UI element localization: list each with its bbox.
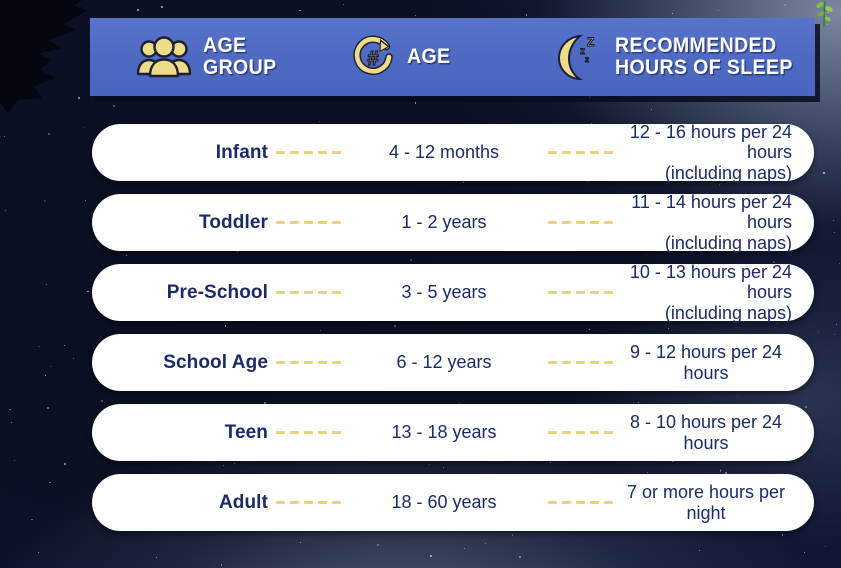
header-column-age: # AGE — [340, 18, 530, 96]
people-group-icon — [136, 36, 192, 78]
dash — [548, 291, 557, 294]
dash — [304, 221, 313, 224]
svg-text:#: # — [367, 48, 378, 70]
dashed-divider — [544, 221, 616, 224]
dash — [604, 361, 613, 364]
table-row: Adult18 - 60 years7 or more hours per ni… — [92, 474, 814, 531]
table-row: School Age6 - 12 years9 - 12 hours per 2… — [92, 334, 814, 391]
dash — [604, 501, 613, 504]
cell-age: 3 - 5 years — [344, 282, 544, 303]
cell-recommended-hours: 10 - 13 hours per 24 hours (including na… — [616, 262, 814, 322]
cell-age-group: Toddler — [92, 212, 272, 234]
dash — [590, 501, 599, 504]
dashed-divider — [272, 291, 344, 294]
dashed-divider — [272, 151, 344, 154]
dashed-divider — [272, 431, 344, 434]
dash — [548, 221, 557, 224]
age-clock-hash-icon: # — [350, 34, 396, 80]
dash — [548, 501, 557, 504]
dashed-divider — [544, 501, 616, 504]
cell-recommended-hours: 12 - 16 hours per 24 hours (including na… — [616, 122, 814, 182]
dash — [590, 221, 599, 224]
cell-age: 4 - 12 months — [344, 142, 544, 163]
svg-text:Z: Z — [587, 35, 594, 49]
dash — [562, 291, 571, 294]
dash — [576, 291, 585, 294]
dash — [576, 501, 585, 504]
header-column-recommended-hours: Z z z RECOMMENDED HOURS OF SLEEP — [530, 18, 815, 96]
dash — [548, 151, 557, 154]
dash — [562, 361, 571, 364]
cell-age: 1 - 2 years — [344, 212, 544, 233]
table-row: Teen13 - 18 years8 - 10 hours per 24 hou… — [92, 404, 814, 461]
dashed-divider — [544, 291, 616, 294]
table-header-bar: AGE GROUP # AGE Z z z RECOMMENDED HOURS … — [90, 18, 815, 96]
dash — [276, 361, 285, 364]
dash — [332, 151, 341, 154]
dash — [304, 501, 313, 504]
dash — [604, 221, 613, 224]
dash — [276, 501, 285, 504]
dash — [590, 431, 599, 434]
moon-sleep-zzz-icon: Z z z — [552, 32, 604, 82]
dash — [604, 291, 613, 294]
dash — [562, 151, 571, 154]
dash — [576, 361, 585, 364]
dash — [276, 221, 285, 224]
dash — [562, 221, 571, 224]
dash — [290, 151, 299, 154]
header-label-recommended-hours: RECOMMENDED HOURS OF SLEEP — [615, 35, 793, 79]
dashed-divider — [544, 151, 616, 154]
dash — [290, 361, 299, 364]
dash — [332, 221, 341, 224]
dash — [604, 151, 613, 154]
cell-age: 6 - 12 years — [344, 352, 544, 373]
table-row: Infant4 - 12 months12 - 16 hours per 24 … — [92, 124, 814, 181]
dash — [576, 431, 585, 434]
dash — [590, 151, 599, 154]
dash — [276, 151, 285, 154]
dash — [318, 221, 327, 224]
dash — [304, 361, 313, 364]
dashed-divider — [272, 221, 344, 224]
dash — [332, 431, 341, 434]
dash — [548, 431, 557, 434]
dash — [590, 361, 599, 364]
svg-text:z: z — [585, 55, 589, 64]
dashed-divider — [272, 501, 344, 504]
dash — [576, 151, 585, 154]
table-row: Pre-School3 - 5 years10 - 13 hours per 2… — [92, 264, 814, 321]
dash — [332, 361, 341, 364]
dash — [304, 431, 313, 434]
header-label-age-group: AGE GROUP — [203, 35, 276, 79]
dashed-divider — [544, 431, 616, 434]
dashed-divider — [544, 361, 616, 364]
cell-age-group: Teen — [92, 422, 272, 444]
cell-recommended-hours: 7 or more hours per night — [616, 482, 814, 522]
dash — [304, 151, 313, 154]
dash — [318, 291, 327, 294]
dash — [276, 291, 285, 294]
cell-recommended-hours: 8 - 10 hours per 24 hours — [616, 412, 814, 452]
cell-age: 13 - 18 years — [344, 422, 544, 443]
dash — [318, 361, 327, 364]
dash — [318, 501, 327, 504]
cell-age-group: Pre-School — [92, 282, 272, 304]
dash — [290, 501, 299, 504]
dash — [604, 431, 613, 434]
cell-age-group: School Age — [92, 352, 272, 374]
dash — [318, 431, 327, 434]
header-column-age-group: AGE GROUP — [90, 18, 340, 96]
dash — [332, 501, 341, 504]
dashed-divider — [272, 361, 344, 364]
cell-age-group: Infant — [92, 142, 272, 164]
dash — [332, 291, 341, 294]
dash — [548, 361, 557, 364]
dash — [318, 151, 327, 154]
dash — [562, 431, 571, 434]
header-label-age: AGE — [407, 46, 450, 68]
dash — [276, 431, 285, 434]
dash — [290, 221, 299, 224]
dash — [576, 221, 585, 224]
cell-recommended-hours: 9 - 12 hours per 24 hours — [616, 342, 814, 382]
dash — [290, 291, 299, 294]
cell-age-group: Adult — [92, 492, 272, 514]
dash — [304, 291, 313, 294]
dash — [562, 501, 571, 504]
cell-age: 18 - 60 years — [344, 492, 544, 513]
dash — [290, 431, 299, 434]
table-row: Toddler1 - 2 years11 - 14 hours per 24 h… — [92, 194, 814, 251]
sleep-recommendation-table: Infant4 - 12 months12 - 16 hours per 24 … — [92, 124, 814, 531]
dash — [590, 291, 599, 294]
cell-recommended-hours: 11 - 14 hours per 24 hours (including na… — [616, 192, 814, 252]
